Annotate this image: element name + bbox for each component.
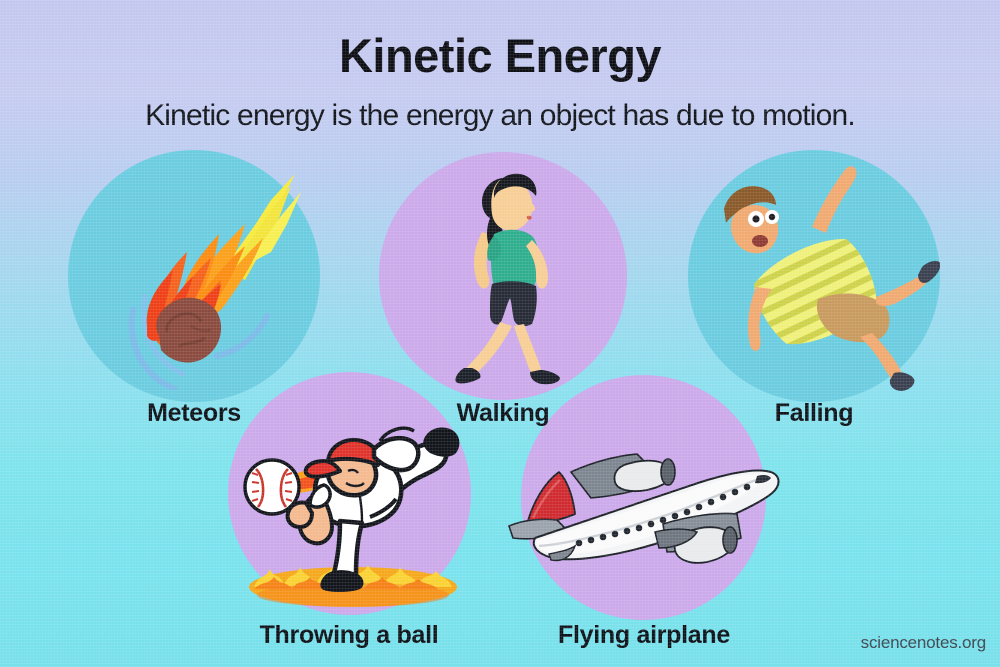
label-walking: Walking — [379, 399, 627, 428]
kinetic-energy-infographic: Kinetic Energy Kinetic energy is the ene… — [0, 0, 1000, 667]
watermark: sciencenotes.org — [861, 633, 986, 653]
label-throwing-a-ball: Throwing a ball — [213, 621, 485, 650]
label-falling: Falling — [688, 399, 940, 428]
label-meteors: Meteors — [68, 399, 320, 428]
label-flying-airplane: Flying airplane — [508, 621, 780, 650]
falling-person-icon — [700, 155, 940, 395]
page-title: Kinetic Energy — [0, 31, 1000, 80]
walking-person-icon — [420, 150, 590, 390]
page-subtitle: Kinetic energy is the energy an object h… — [0, 99, 1000, 132]
airplane-icon — [505, 420, 785, 595]
meteor-icon — [95, 160, 325, 390]
